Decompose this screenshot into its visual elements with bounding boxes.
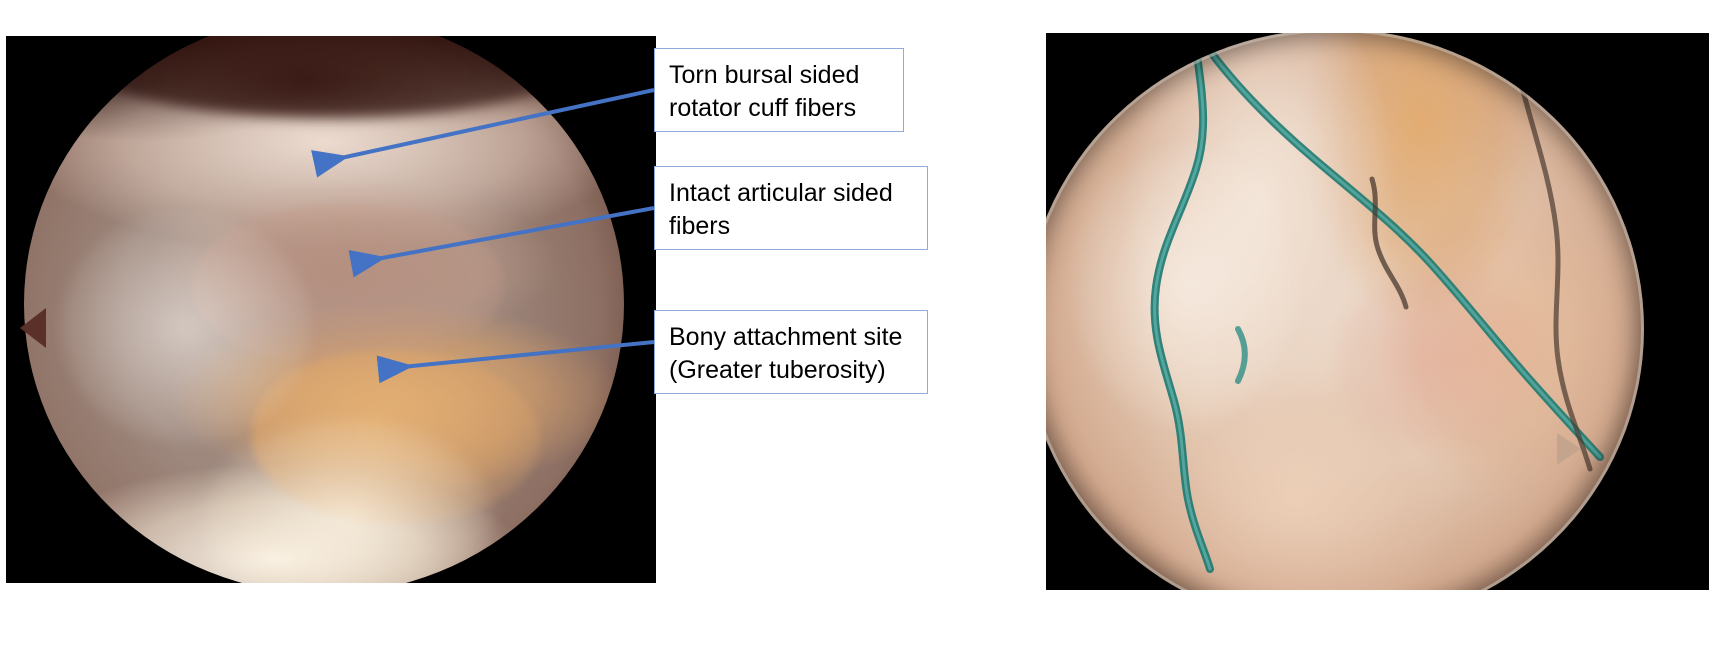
callout-1-line-1: Torn bursal sided bbox=[669, 59, 891, 92]
callout-2-line-1: Intact articular sided bbox=[669, 177, 915, 210]
callout-3-line-1: Bony attachment site bbox=[669, 321, 915, 354]
left-dark-superior-region bbox=[72, 36, 588, 118]
callout-torn-bursal-fibers: Torn bursal sided rotator cuff fibers bbox=[654, 48, 904, 132]
left-scope-field bbox=[24, 36, 624, 583]
left-rim-notch bbox=[20, 308, 46, 348]
callout-3-line-2: (Greater tuberosity) bbox=[669, 354, 915, 387]
right-arthroscopy-image bbox=[1046, 33, 1709, 590]
callout-bony-attachment-site: Bony attachment site (Greater tuberosity… bbox=[654, 310, 928, 394]
callout-1-line-2: rotator cuff fibers bbox=[669, 92, 891, 125]
right-rim-notch bbox=[1557, 433, 1581, 465]
left-arthroscopy-image bbox=[6, 36, 656, 583]
callout-2-line-2: fibers bbox=[669, 210, 915, 243]
right-scope-rim bbox=[1046, 33, 1644, 590]
left-specular-highlight-a bbox=[60, 211, 312, 443]
right-scope-field bbox=[1046, 33, 1644, 590]
callout-intact-articular-fibers: Intact articular sided fibers bbox=[654, 166, 928, 250]
